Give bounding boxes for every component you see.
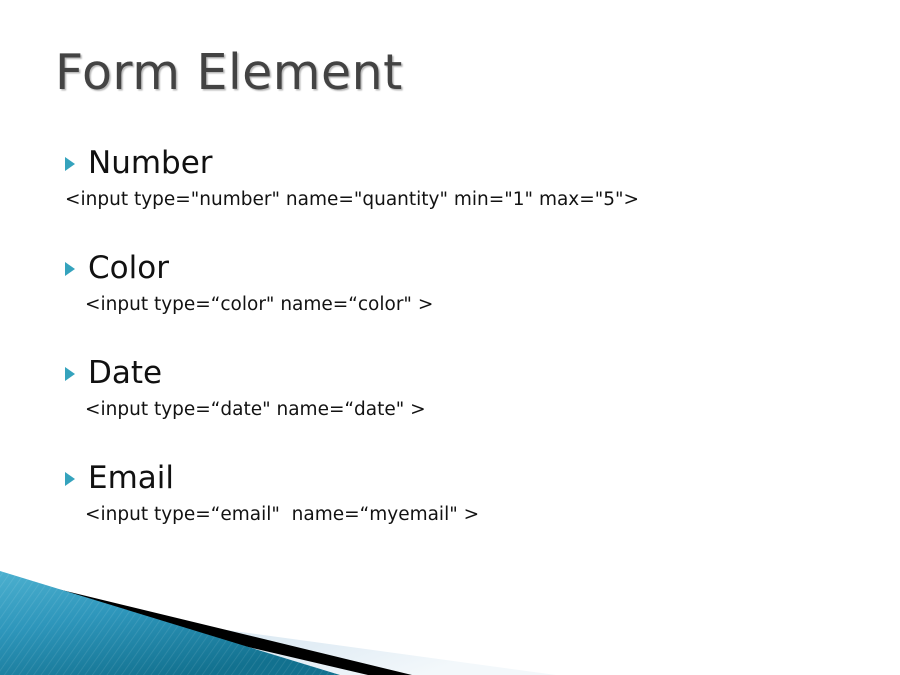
list-item-code: <input type=“date" name=“date" > (0, 401, 860, 420)
list-item-heading: Color (0, 253, 860, 284)
triangle-right-icon (64, 366, 76, 382)
corner-ribbon-decoration (0, 555, 580, 675)
list-item-heading-label: Color (88, 250, 169, 286)
list-item-heading: Date (0, 358, 860, 389)
list-item-heading-label: Date (88, 355, 162, 391)
list-item-code: <input type="number" name="quantity" min… (0, 191, 860, 210)
slide: Form Element Number <input type="number"… (0, 0, 900, 675)
list-item-code: <input type=“color" name=“color" > (0, 296, 860, 315)
page-title: Form Element (55, 44, 403, 101)
list-item: Email <input type=“email" name=“myemail"… (0, 463, 860, 525)
triangle-right-icon (64, 471, 76, 487)
list-item-heading-label: Number (88, 145, 213, 181)
list-item: Color <input type=“color" name=“color" > (0, 253, 860, 315)
list-item: Date <input type=“date" name=“date" > (0, 358, 860, 420)
triangle-right-icon (64, 261, 76, 277)
list-item: Number <input type="number" name="quanti… (0, 148, 860, 210)
triangle-right-icon (64, 156, 76, 172)
list-item-heading: Email (0, 463, 860, 494)
list-item-code: <input type=“email" name=“myemail" > (0, 506, 860, 525)
list-item-heading-label: Email (88, 460, 174, 496)
list-item-heading: Number (0, 148, 860, 179)
